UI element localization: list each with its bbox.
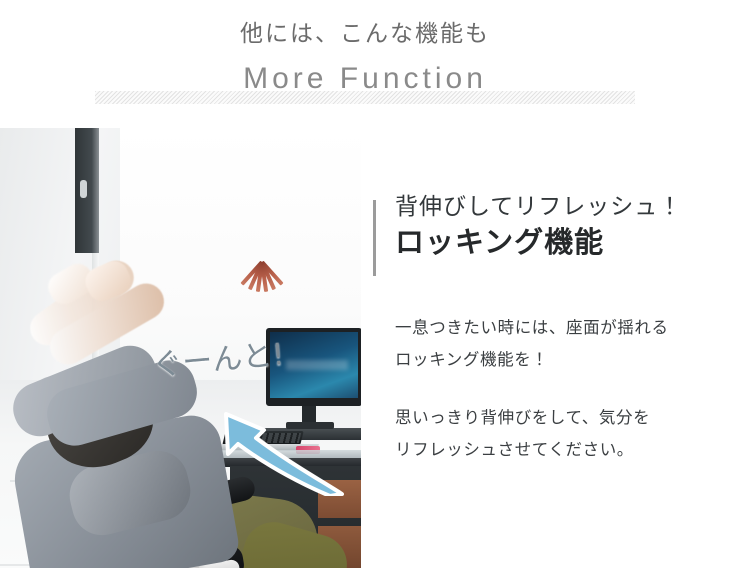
paragraph-line: ロッキング機能を！ (395, 344, 713, 376)
paragraph-line: 一息つきたい時には、座面が揺れる (395, 312, 713, 344)
heading-accent-bar (373, 200, 376, 276)
header-english-wrap: More Function (0, 62, 730, 114)
pencil-fan-icon (232, 262, 292, 304)
feature-body-block: 一息つきたい時には、座面が揺れる ロッキング機能を！ 思いっきり背伸びをして、気… (373, 312, 713, 467)
page-root: 他には、こんな機能も More Function (0, 0, 730, 585)
feature-paragraph: 思いっきり背伸びをして、気分を リフレッシュさせてください。 (395, 402, 713, 466)
header-english-title: More Function (0, 62, 730, 96)
feature-subtitle: 背伸びしてリフレッシュ！ (395, 190, 713, 223)
feature-heading-block: 背伸びしてリフレッシュ！ ロッキング機能 (373, 190, 713, 264)
curved-up-left-arrow-icon (170, 376, 345, 496)
photo-door-frame (75, 128, 99, 253)
feature-photo: ぐーんと! (0, 128, 361, 568)
paragraph-line: 思いっきり背伸びをして、気分を (395, 402, 713, 434)
page-header: 他には、こんな機能も More Function (0, 0, 730, 120)
feature-text-column: 背伸びしてリフレッシュ！ ロッキング機能 一息つきたい時には、座面が揺れる ロッ… (373, 190, 713, 467)
feature-paragraph: 一息つきたい時には、座面が揺れる ロッキング機能を！ (395, 312, 713, 376)
header-japanese-title: 他には、こんな機能も (0, 14, 730, 48)
photo-door-knob (80, 180, 87, 198)
feature-title: ロッキング機能 (395, 223, 713, 264)
paragraph-line: リフレッシュさせてください。 (395, 434, 713, 466)
